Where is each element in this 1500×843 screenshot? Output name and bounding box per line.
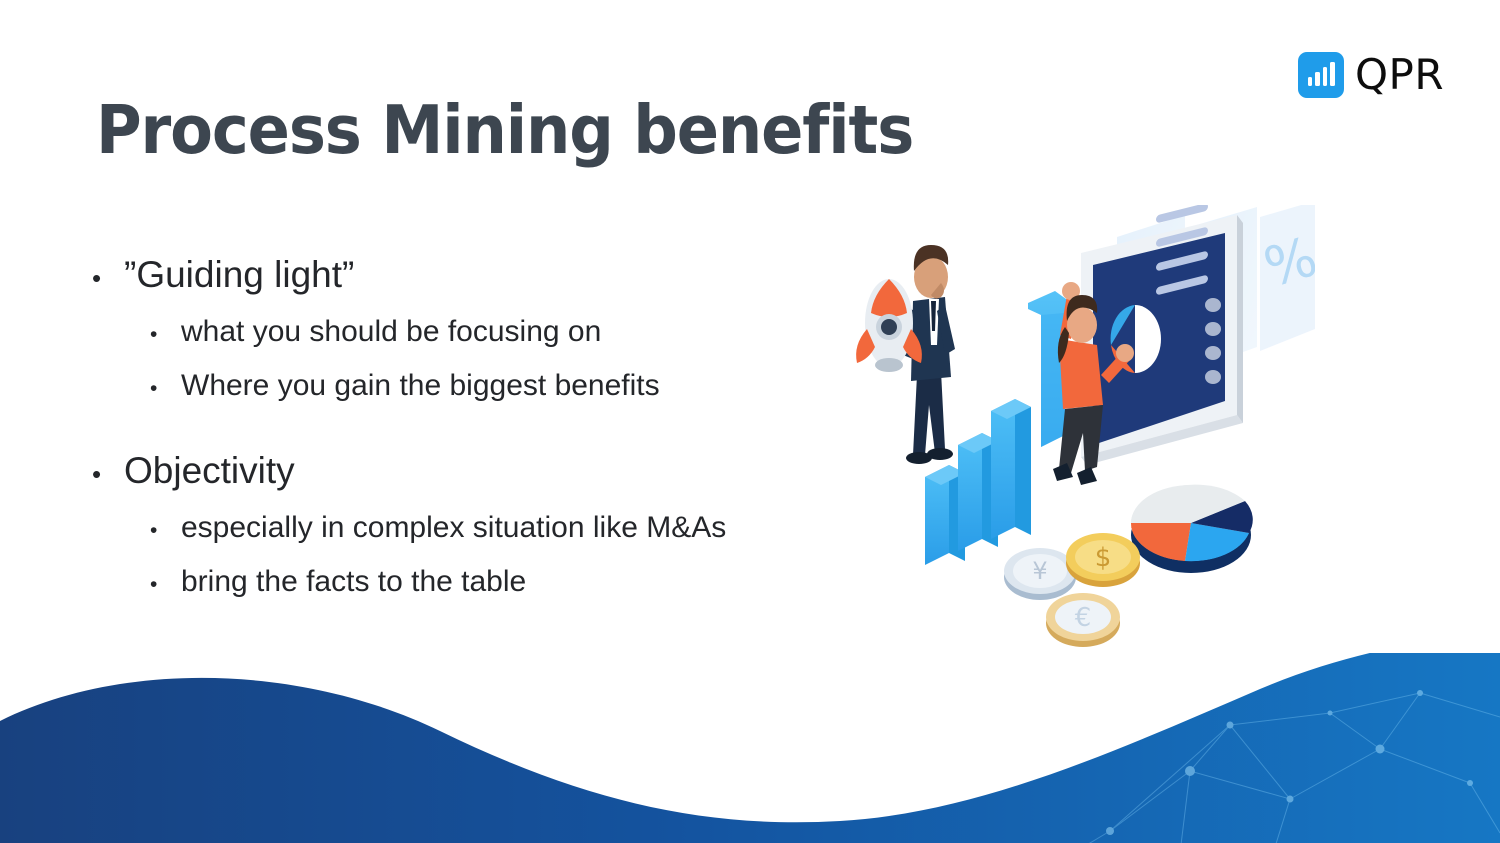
pie-chart-3d (1131, 485, 1253, 573)
rocket-icon (856, 279, 922, 372)
svg-text:$: $ (1095, 543, 1112, 573)
businessman-holding-rocket (856, 245, 955, 464)
bullet-level2-label: what you should be focusing on (181, 313, 601, 351)
bullet-glyph-icon: • (150, 520, 181, 541)
bullet-glyph-icon: • (150, 574, 181, 595)
bullet-level2: • bring the facts to the table (150, 563, 852, 601)
bullet-glyph-icon: • (150, 378, 181, 399)
bullet-level2-label: Where you gain the biggest benefits (181, 367, 660, 405)
svg-text:¥: ¥ (1032, 557, 1047, 585)
coin-euro: € (1046, 593, 1120, 647)
bullet-glyph-icon: • (92, 265, 124, 291)
qpr-logo: QPR (1298, 52, 1444, 98)
logo-wordmark: QPR (1355, 54, 1444, 96)
coin-yen: ¥ (1004, 548, 1076, 600)
bullet-level1: • Objectivity (92, 448, 852, 493)
bullet-level1-label: Objectivity (124, 448, 295, 493)
bullet-list: • ”Guiding light” • what you should be f… (92, 252, 852, 600)
bullet-level2: • what you should be focusing on (150, 313, 852, 351)
bullet-group: • Objectivity • especially in complex si… (92, 448, 852, 600)
dashboard-screen (1081, 205, 1243, 465)
bullet-level2-label: bring the facts to the table (181, 563, 526, 601)
bar-chart-icon (1298, 52, 1344, 98)
svg-text:€: € (1075, 603, 1092, 633)
bullet-level1-label: ”Guiding light” (124, 252, 354, 297)
coin-dollar: $ (1066, 533, 1140, 587)
slide-canvas: QPR Process Mining benefits • ”Guiding l… (0, 0, 1500, 843)
bullet-level1: • ”Guiding light” (92, 252, 852, 297)
bullet-glyph-icon: • (150, 324, 181, 345)
business-analytics-illustration: % (845, 205, 1315, 675)
bullet-level2: • especially in complex situation like M… (150, 509, 852, 547)
bullet-group: • ”Guiding light” • what you should be f… (92, 252, 852, 404)
bullet-level2-label: especially in complex situation like M&A… (181, 509, 726, 547)
bottom-wave-banner (0, 653, 1500, 843)
page-title: Process Mining benefits (96, 91, 913, 169)
bullet-glyph-icon: • (92, 461, 124, 487)
bullet-level2: • Where you gain the biggest benefits (150, 367, 852, 405)
